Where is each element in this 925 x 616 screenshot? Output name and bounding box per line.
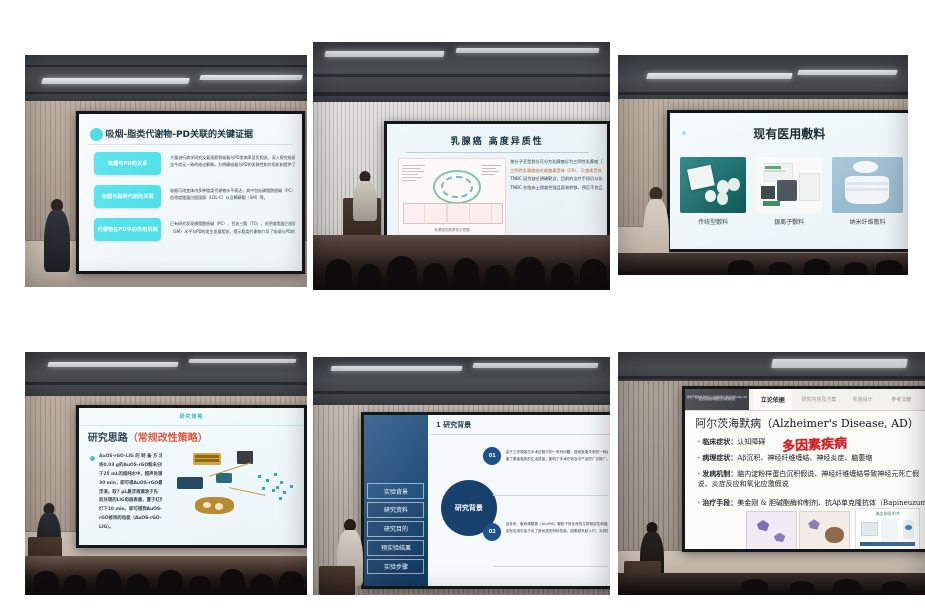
dressing-card-2-label: 银离子敷料 <box>756 217 823 226</box>
tab-3[interactable]: 参考文献 <box>884 389 918 410</box>
tab-0-label: 立论依据 <box>761 395 785 404</box>
dressing-card-2 <box>756 157 823 213</box>
slide-title-paren: （常规改性策略） <box>128 433 208 444</box>
evidence-box-1: 吸烟与PD的关系 <box>94 152 161 176</box>
nav-item-4[interactable]: 实验步骤 <box>367 559 424 575</box>
nav-item-4-label: 实验步骤 <box>384 562 408 571</box>
lecture-room-scene: 乳腺癌 高度异质性 <box>313 42 610 290</box>
evidence-box-1-label: 吸烟与PD的关系 <box>94 152 161 176</box>
nav-item-3-label: 预实验结果 <box>381 543 411 552</box>
ceiling <box>25 55 307 106</box>
block-2-text: 近年来，聚丙烯酰胺（AcylPA）凝胶于其优良的生物相容性和组织的亲和性能等特点… <box>506 521 608 535</box>
nav-item-3[interactable]: 预实验结果 <box>367 540 424 556</box>
podium <box>319 566 355 595</box>
evidence-box-2-label: 吸烟与脂类代谢的关联 <box>94 185 161 209</box>
projection-screen: 现有医用敷料 传统型敷料 <box>667 110 908 252</box>
tab-2-label: 实验设计 <box>852 396 872 403</box>
ad-neuron-figure-right: 阿尔茨海默病 <box>799 511 850 550</box>
nav-item-0[interactable]: 实验背景 <box>367 483 424 499</box>
slide-title: 乳腺癌 高度异质性 <box>387 134 607 147</box>
slide-key-evidence: 吸烟-脂类代谢物-PD关联的关键证据 吸烟与PD的关系 大量流行病学研究反复观察… <box>79 114 302 272</box>
ad-bullet-1-value: 认知障碍 <box>737 438 765 446</box>
dressing-card-3-label: 纳米纤维敷料 <box>832 217 903 226</box>
slide-header: 1 研究背景 <box>436 420 471 430</box>
block-2-number: 02 <box>483 523 501 541</box>
ceiling <box>25 352 307 401</box>
tab-0[interactable]: 立论依据 <box>753 389 792 410</box>
nav-item-2[interactable]: 研究目的 <box>367 521 424 537</box>
slide-medical-dressings: 现有医用敷料 传统型敷料 <box>670 113 908 249</box>
project-title-text: 神经干细胞外泌体对小鼠脑损伤后修复调控miR-124表型的动态平衡的分子机制研究 <box>685 396 748 403</box>
tab-1[interactable]: 研究内容及方案 <box>797 389 841 410</box>
ad-bullet-2-key: 病理症状： <box>702 453 737 462</box>
ad-bullet-4: · 治疗手段：美金刚 & 胆碱酯酶抑制剂、抗Aβ单克隆抗体（Bapineuzum… <box>698 498 925 508</box>
ad-bullet-2-value: Aβ沉积、神经纤维缠结、神经炎症、脑萎缩 <box>737 454 872 462</box>
slide-title: 吸烟-脂类代谢物-PD关联的关键证据 <box>105 127 253 140</box>
lecture-room-scene: 神经干细胞外泌体对小鼠脑损伤后修复调控miR-124表型的动态平衡的分子机制研究… <box>618 352 925 595</box>
nav-item-2-label: 研究目的 <box>384 524 408 533</box>
tab-2[interactable]: 实验设计 <box>846 389 880 410</box>
evidence-box-2: 吸烟与脂类代谢的关联 <box>94 185 161 209</box>
audience-seating <box>313 235 610 290</box>
speaker-figure <box>39 199 76 273</box>
heterogeneity-figure: 乳腺癌的异质性示意图 <box>398 158 505 237</box>
nav-item-0-label: 实验背景 <box>384 487 408 496</box>
medication-leaflet-card: 美金刚说明书 <box>855 508 920 550</box>
photo-panel-top-left: 吸烟-脂类代谢物-PD关联的关键证据 吸烟与PD的关系 大量流行病学研究反复观察… <box>25 55 307 287</box>
bullet-diamond-icon <box>90 456 95 461</box>
heterogeneity-bullets: 按分子亚型划分可分为乳腺癌分为三阴性乳腺癌（TNBC）和非三阴性乳腺癌（NTNB… <box>510 158 602 193</box>
ceiling <box>313 42 610 106</box>
photo-panel-top-right: 现有医用敷料 传统型敷料 <box>618 55 908 275</box>
ad-bullet-4-value: 美金刚 & 胆碱酯酶抑制剂、抗Aβ单克隆抗体（Bapineuzumab） <box>737 499 925 507</box>
ad-bullet-3: · 发病机制：脑内淀粉样蛋白沉积假说、神经纤维缠结导致神经元死亡假说、炎症反应和… <box>698 469 921 489</box>
block-1-number: 01 <box>483 447 501 465</box>
projection-screen: 实验背景 研究资料 研究目的 预实验结果 实验步骤 <box>361 412 610 589</box>
ad-bullet-1-key: 临床症状： <box>702 437 737 446</box>
figure-caption: 乳腺癌的异质性示意图 <box>399 228 504 233</box>
tab-3-label: 参考文献 <box>891 396 911 403</box>
method-body-text: AuOS-rGO-LIG 的 制 备 方 法： 将0.03 g的AuOS-rGO… <box>99 453 162 532</box>
slide-research-background: 实验背景 研究资料 研究目的 预实验结果 实验步骤 <box>364 415 610 586</box>
block-1-text: 由于工作原因与手术过程中的一系列问题，造成医患关系的一种疾病，极大的损 害了患者… <box>506 449 608 463</box>
evidence-box-3-label: 代谢物在PD中的作用机制 <box>94 218 161 242</box>
projection-screen: 吸烟-脂类代谢物-PD关联的关键证据 吸烟与PD的关系 大量流行病学研究反复观察… <box>76 111 305 275</box>
slide-title-main: 研究思路 <box>88 433 128 444</box>
title-bullet-icon <box>90 128 103 141</box>
slide-tabbar: 神经干细胞外泌体对小鼠脑损伤后修复调控miR-124表型的动态平衡的分子机制研究… <box>685 389 925 411</box>
lecture-room-scene: 研究策略 研究思路（常规改性策略） AuOS-rGO-LIG 的 制 备 方 法… <box>25 352 307 595</box>
photo-panel-bottom-right: 神经干细胞外泌体对小鼠脑损伤后修复调控miR-124表型的动态平衡的分子机制研究… <box>618 352 925 595</box>
evidence-text-2: 吸烟可改变体内多种脂类代谢物水平表达，其中包括磷脂酰胆碱（PC）、甘油三酯（TG… <box>170 187 295 202</box>
red-emphasis-stamp: 多因素疾病 <box>782 432 848 454</box>
center-topic-label: 研究背景 <box>455 503 483 513</box>
tab-1-label: 研究内容及方案 <box>801 396 836 403</box>
audience-seating <box>25 556 307 595</box>
slide-alzheimers-disease: 神经干细胞外泌体对小鼠脑损伤后修复调控miR-124表型的动态平衡的分子机制研究… <box>685 389 925 549</box>
block-1-number-label: 01 <box>489 453 496 459</box>
photo-panel-bottom-left: 研究策略 研究思路（常规改性策略） AuOS-rGO-LIG 的 制 备 方 法… <box>25 352 307 595</box>
nav-item-1[interactable]: 研究资料 <box>367 502 424 518</box>
ad-bullet-4-key: 治疗手段： <box>702 498 737 507</box>
lecture-room-scene: 现有医用敷料 传统型敷料 <box>618 55 908 275</box>
lecture-room-scene: 吸烟-脂类代谢物-PD关联的关键证据 吸烟与PD的关系 大量流行病学研究反复观察… <box>25 55 307 287</box>
block-2-number-label: 02 <box>489 529 496 535</box>
ad-neuron-figure-left: 正常 <box>746 511 797 550</box>
projection-screen: 乳腺癌 高度异质性 <box>384 121 610 251</box>
evidence-text-1: 大量流行病学研究反复观察到吸烟与PD发病率呈负相关，深入探究吸烟与PD的关联， … <box>170 154 295 169</box>
slide-title: 研究思路（常规改性策略） <box>88 429 208 444</box>
presentation-photo-collage: 吸烟-脂类代谢物-PD关联的关键证据 吸烟与PD的关系 大量流行病学研究反复观察… <box>0 0 925 616</box>
ad-bullet-2: · 病理症状：Aβ沉积、神经纤维缠结、神经炎症、脑萎缩 <box>698 453 873 463</box>
slide-research-approach: 研究策略 研究思路（常规改性策略） AuOS-rGO-LIG 的 制 备 方 法… <box>79 408 305 544</box>
slide-breast-cancer-heterogeneity: 乳腺癌 高度异质性 <box>387 124 607 248</box>
nav-item-1-label: 研究资料 <box>384 505 408 514</box>
dressing-card-1-label: 传统型敷料 <box>680 217 747 226</box>
audience-seating <box>618 253 908 275</box>
ad-bullet-3-key: 发病机制： <box>702 469 737 478</box>
lecture-room-scene: 实验背景 研究资料 研究目的 预实验结果 实验步骤 <box>313 357 610 595</box>
projection-screen: 神经干细胞外泌体对小鼠脑损伤后修复调控miR-124表型的动态平衡的分子机制研究… <box>682 386 925 552</box>
project-title-box: 神经干细胞外泌体对小鼠脑损伤后修复调控miR-124表型的动态平衡的分子机制研究 <box>685 389 748 410</box>
medication-card-title: 美金刚说明书 <box>856 511 919 517</box>
evidence-box-3: 代谢物在PD中的作用机制 <box>94 218 161 242</box>
dressing-card-1 <box>680 157 747 213</box>
slide-title: 阿尔茨海默病（Alzheimer's Disease, AD） <box>695 415 919 431</box>
photo-panel-bottom-center: 实验背景 研究资料 研究目的 预实验结果 实验步骤 <box>313 357 610 595</box>
ad-bullet-1: · 临床症状：认知障碍 <box>698 437 766 447</box>
corner-dot-icon <box>682 131 686 135</box>
photo-panel-top-center: 乳腺癌 高度异质性 <box>313 42 610 290</box>
projection-screen: 研究策略 研究思路（常规改性策略） AuOS-rGO-LIG 的 制 备 方 法… <box>76 405 307 547</box>
ceiling <box>313 357 610 409</box>
dressing-card-3 <box>832 157 903 213</box>
audience-seating <box>618 573 925 595</box>
speaker-figure <box>349 171 382 226</box>
evidence-text-3: 已有研究发现磷脂酰胆碱（PC）、甘油三酯（TG）、低密度脂蛋白胆固醇（LDL-C… <box>170 220 295 235</box>
synthesis-scheme-figure: 图1 AuOS-rGO-LIG传感器的制备和检测流程示意图 <box>169 447 300 526</box>
slide-nav-sidebar: 实验背景 研究资料 研究目的 预实验结果 实验步骤 <box>364 415 429 586</box>
slide-title: 现有医用敷料 <box>670 125 908 142</box>
slide-ribbon: 研究策略 <box>79 413 305 420</box>
